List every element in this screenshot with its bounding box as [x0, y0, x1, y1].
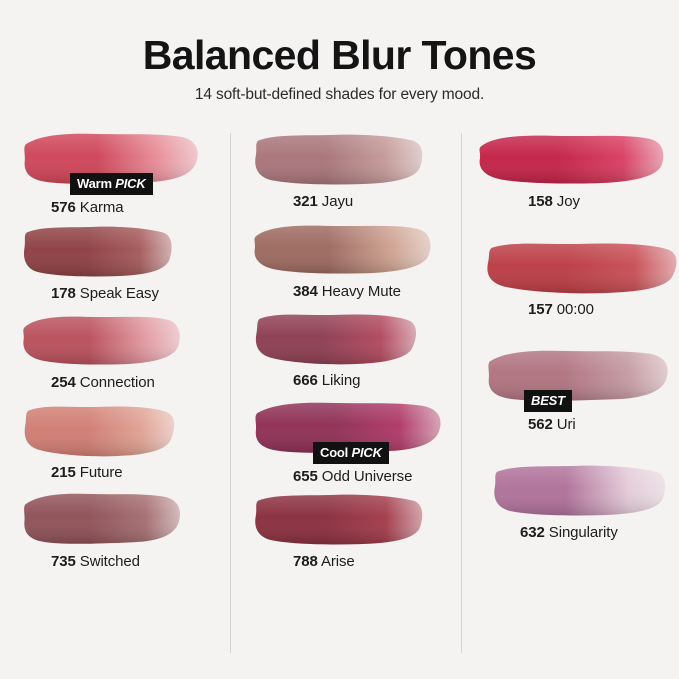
shade-item-158[interactable]: 158 Joy [478, 131, 669, 211]
shade-number: 632 [520, 524, 545, 541]
swatch-area [22, 491, 213, 553]
shade-number: 562 [528, 416, 553, 433]
color-swatch [22, 312, 182, 370]
shade-name: Jayu [318, 193, 353, 210]
shade-grid: Warm PICK576 Karma178 Speak Easy254 Conn… [0, 131, 679, 679]
color-swatch [22, 491, 182, 549]
shade-chart-page: Balanced Blur Tones 14 soft-but-defined … [0, 0, 679, 679]
shade-name: Singularity [545, 524, 618, 541]
badge-prefix: Warm [77, 176, 115, 191]
shade-name: Arise [318, 553, 355, 570]
shade-number: 157 [528, 301, 553, 318]
shade-name: Speak Easy [76, 285, 159, 302]
swatch-area [22, 223, 213, 285]
swatch-area [253, 131, 444, 193]
swatch-area [253, 491, 444, 553]
badge-prefix: Cool [320, 445, 352, 460]
shade-label: 788 Arise [253, 553, 444, 571]
shade-number: 788 [293, 553, 318, 570]
shade-item-735[interactable]: 735 Switched [22, 491, 213, 571]
shade-name: Uri [553, 416, 576, 433]
shade-label: 215 Future [22, 464, 213, 482]
shade-item-215[interactable]: 215 Future [22, 402, 213, 482]
shade-name: Connection [76, 374, 155, 391]
shade-label: 254 Connection [22, 374, 213, 392]
page-header: Balanced Blur Tones 14 soft-but-defined … [0, 0, 679, 104]
shade-item-655[interactable]: Cool PICK655 Odd Universe [253, 400, 444, 486]
shade-name: Liking [318, 372, 361, 389]
page-title: Balanced Blur Tones [0, 34, 679, 77]
shade-item-321[interactable]: 321 Jayu [253, 131, 444, 211]
shade-name: Switched [76, 553, 140, 570]
shade-number: 254 [51, 374, 76, 391]
shade-item-254[interactable]: 254 Connection [22, 312, 213, 392]
shade-label: 384 Heavy Mute [253, 283, 444, 301]
shade-label: 157 00:00 [478, 301, 669, 319]
shade-label: 655 Odd Universe [253, 462, 444, 486]
shade-label: 576 Karma [22, 193, 213, 217]
badge-emphasis: PICK [115, 176, 145, 191]
badge-emphasis: PICK [352, 445, 382, 460]
shade-item-178[interactable]: 178 Speak Easy [22, 223, 213, 303]
shade-number: 158 [528, 193, 553, 210]
shade-name: Karma [76, 199, 124, 216]
shade-name: 00:00 [553, 301, 594, 318]
column-1: Warm PICK576 Karma178 Speak Easy254 Conn… [0, 131, 231, 679]
swatch-area: Cool PICK [253, 400, 444, 462]
shade-item-632[interactable]: 632 Singularity [478, 462, 669, 542]
shade-name: Odd Universe [318, 468, 413, 485]
shade-item-157[interactable]: 157 00:00 [478, 239, 669, 319]
shade-item-576[interactable]: Warm PICK576 Karma [22, 131, 213, 217]
shade-number: 655 [293, 468, 318, 485]
shade-label: 632 Singularity [478, 524, 669, 542]
shade-label: 178 Speak Easy [22, 285, 213, 303]
shade-number: 215 [51, 464, 76, 481]
shade-label: 562 Uri [478, 410, 669, 434]
shade-label: 735 Switched [22, 553, 213, 571]
shade-item-788[interactable]: 788 Arise [253, 491, 444, 571]
shade-label: 158 Joy [478, 193, 669, 211]
shade-number: 666 [293, 372, 318, 389]
color-swatch [478, 131, 666, 189]
shade-number: 576 [51, 199, 76, 216]
color-swatch [253, 131, 425, 189]
color-swatch [22, 402, 177, 460]
column-2: 321 Jayu384 Heavy Mute666 LikingCool PIC… [231, 131, 462, 679]
badge-best: BEST [524, 390, 572, 412]
swatch-area [478, 462, 669, 524]
swatch-area: BEST [478, 348, 669, 410]
shade-name: Joy [553, 193, 580, 210]
swatch-area [22, 312, 213, 374]
swatch-area [253, 221, 444, 283]
swatch-area: Warm PICK [22, 131, 213, 193]
shade-name: Future [76, 464, 123, 481]
badge-emphasis: BEST [531, 393, 565, 408]
color-swatch [253, 491, 425, 549]
swatch-area [22, 402, 213, 464]
color-swatch [253, 221, 433, 279]
swatch-area [478, 131, 669, 193]
shade-item-562[interactable]: BEST562 Uri [478, 348, 669, 434]
page-subtitle: 14 soft-but-defined shades for every moo… [0, 86, 679, 104]
shade-number: 735 [51, 553, 76, 570]
shade-label: 666 Liking [253, 372, 444, 390]
shade-name: Heavy Mute [318, 283, 401, 300]
color-swatch [22, 223, 174, 281]
color-swatch [484, 239, 679, 297]
shade-number: 178 [51, 285, 76, 302]
swatch-area [478, 239, 669, 301]
swatch-area [253, 310, 444, 372]
shade-label: 321 Jayu [253, 193, 444, 211]
column-3: 158 Joy157 00:00BEST562 Uri632 Singulari… [462, 131, 679, 679]
badge-pick: Cool PICK [313, 442, 389, 464]
shade-number: 321 [293, 193, 318, 210]
shade-item-666[interactable]: 666 Liking [253, 310, 444, 390]
color-swatch [492, 462, 668, 520]
badge-pick: Warm PICK [70, 173, 153, 195]
color-swatch [253, 310, 419, 368]
color-swatch [486, 348, 670, 406]
shade-item-384[interactable]: 384 Heavy Mute [253, 221, 444, 301]
shade-number: 384 [293, 283, 318, 300]
